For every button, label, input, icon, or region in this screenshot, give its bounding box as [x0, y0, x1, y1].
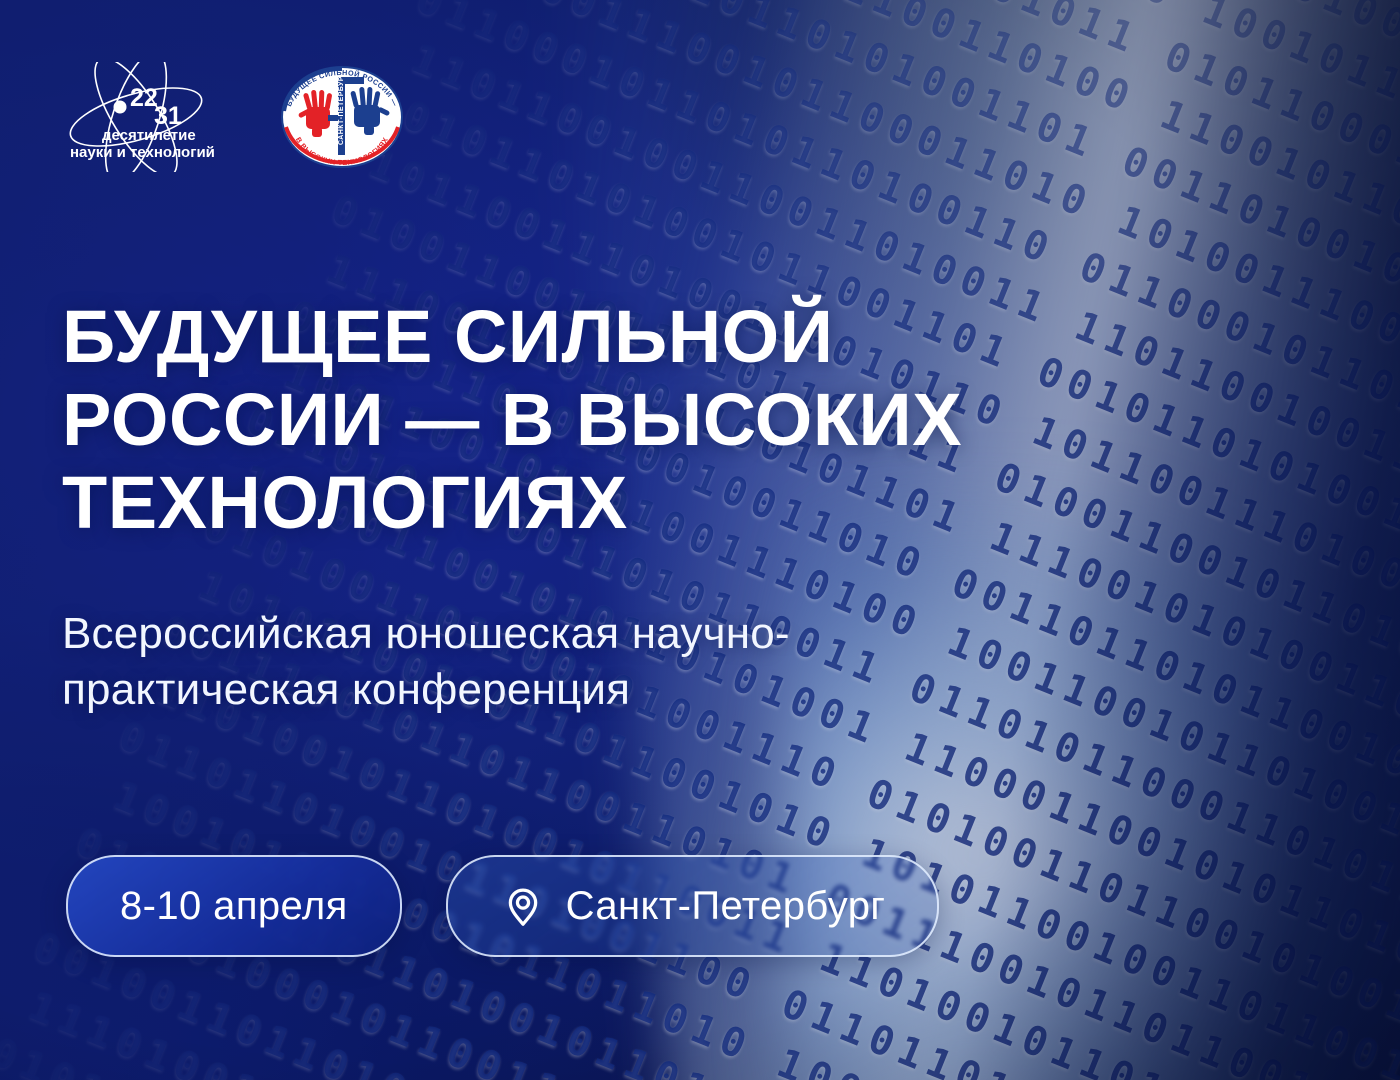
- event-location-label: Санкт-Петербург: [566, 884, 886, 929]
- event-date-badge[interactable]: 8-10 апреля: [66, 855, 402, 957]
- conference-emblem-logo: САНКТ-ПЕТЕРБУРГ БУДУЩЕЕ СИЛЬНОЙ РОССИИ —…: [272, 65, 412, 169]
- banner-content: 22 31 десятилетие науки и технологий: [0, 0, 1400, 1080]
- decade-year-end: 31: [154, 102, 182, 130]
- event-meta-row: 8-10 апреля Санкт-Петербург: [66, 855, 939, 957]
- event-date-label: 8-10 апреля: [120, 884, 348, 929]
- decade-line2: науки и технологий: [70, 144, 215, 161]
- conference-banner: 0110100110001011010011 01101001100010110…: [0, 0, 1400, 1080]
- decade-line1: десятилетие: [102, 127, 196, 144]
- page-title: Будущее сильной России — в высоких техно…: [62, 296, 1042, 545]
- event-location-badge[interactable]: Санкт-Петербург: [446, 855, 940, 957]
- logo-row: 22 31 десятилетие науки и технологий: [58, 62, 412, 172]
- event-subtitle: Всероссийская юношеская научно-практичес…: [62, 606, 852, 719]
- map-pin-icon: [500, 883, 546, 929]
- decade-of-science-logo: 22 31 десятилетие науки и технологий: [58, 62, 228, 172]
- emblem-vertical-text: САНКТ-ПЕТЕРБУРГ: [338, 72, 345, 145]
